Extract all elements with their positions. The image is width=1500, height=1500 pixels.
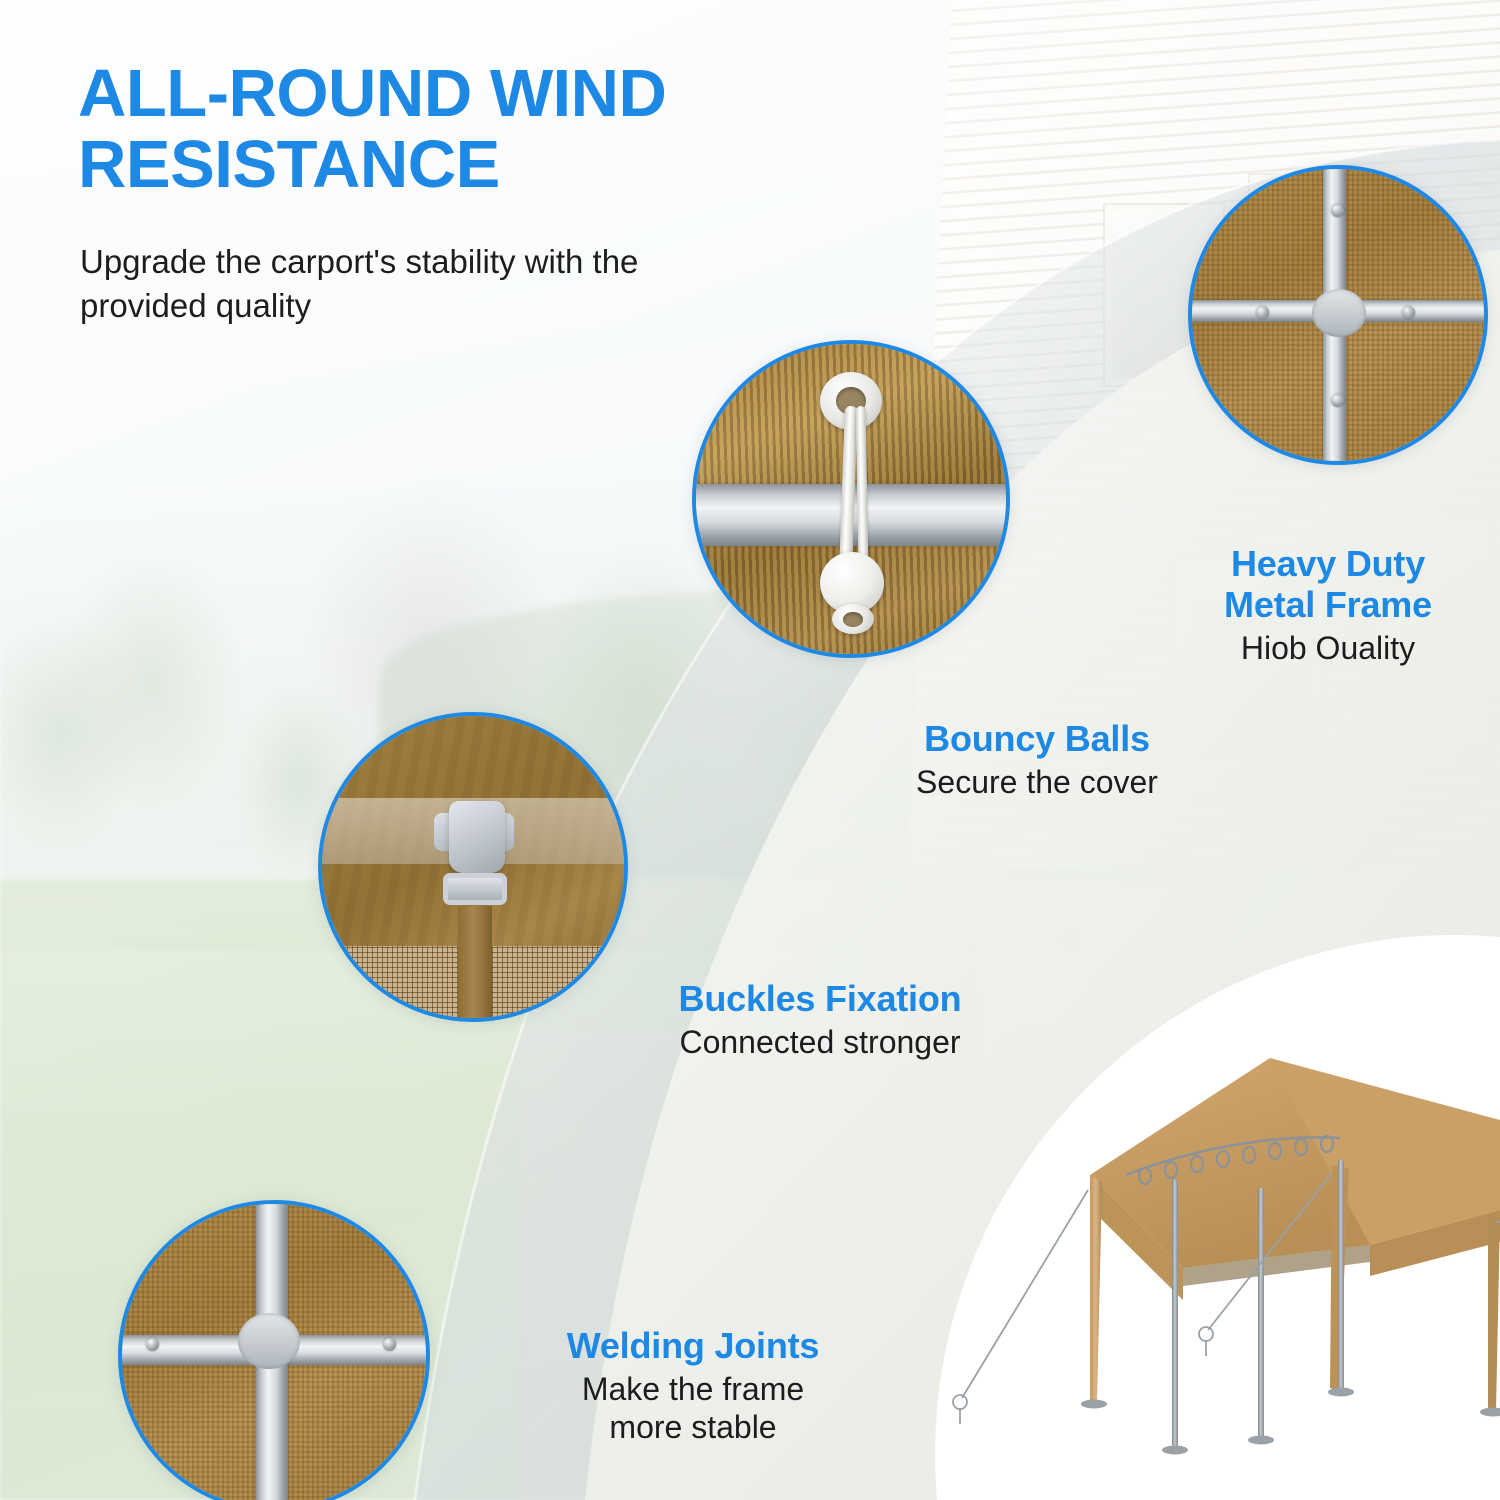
bolt bbox=[146, 1338, 159, 1351]
buckle-strap-bar bbox=[443, 873, 507, 905]
feature-welding-joints: Welding Joints Make the frame more stabl… bbox=[508, 1325, 878, 1447]
foot-plate bbox=[1480, 1408, 1500, 1417]
page-title: ALL-ROUND WIND RESISTANCE bbox=[78, 58, 838, 200]
webbing-strap bbox=[458, 906, 492, 1021]
feature-title: Bouncy Balls bbox=[862, 718, 1212, 759]
welded-cross-joint-photo bbox=[118, 1200, 430, 1500]
feature-subtitle: Secure the cover bbox=[862, 764, 1212, 802]
weld-bead bbox=[238, 1313, 300, 1369]
buckle-body bbox=[449, 801, 505, 873]
bungee-ball-grommet-photo bbox=[692, 340, 1010, 658]
joint-fitting bbox=[1312, 289, 1366, 337]
carport-canopy-illustration bbox=[940, 1010, 1500, 1500]
foot-plate bbox=[1081, 1400, 1107, 1409]
feature-bouncy-balls: Bouncy Balls Secure the cover bbox=[862, 718, 1212, 802]
bolt bbox=[1331, 204, 1344, 217]
support-pole bbox=[1172, 1180, 1178, 1448]
feature-buckles-fixation: Buckles Fixation Connected stronger bbox=[610, 978, 1030, 1062]
feature-metal-frame: Heavy Duty Metal Frame Hiob Ouality bbox=[1158, 543, 1498, 668]
infographic-poster: ALL-ROUND WIND RESISTANCE Upgrade the ca… bbox=[0, 0, 1500, 1500]
foot-plate bbox=[1328, 1388, 1354, 1397]
support-pole bbox=[1258, 1188, 1264, 1438]
feature-title: Heavy Duty Metal Frame bbox=[1158, 543, 1498, 625]
canopy-leg-far-right bbox=[1488, 1215, 1500, 1410]
canopy-leg-front-left bbox=[1090, 1175, 1102, 1402]
feature-title: Welding Joints bbox=[508, 1325, 878, 1366]
feature-subtitle: Make the frame more stable bbox=[508, 1371, 878, 1447]
feature-subtitle: Connected stronger bbox=[610, 1024, 1030, 1062]
foot-plate bbox=[1162, 1446, 1188, 1455]
support-pole bbox=[1338, 1160, 1344, 1390]
side-release-buckle-photo bbox=[318, 712, 628, 1022]
page-subtitle: Upgrade the carport's stability with the… bbox=[80, 240, 720, 327]
frame-cross-joint-photo bbox=[1188, 165, 1488, 465]
feature-subtitle: Hiob Ouality bbox=[1158, 630, 1498, 668]
feature-title: Buckles Fixation bbox=[610, 978, 1030, 1019]
bolt bbox=[1331, 394, 1344, 407]
foot-plate bbox=[1248, 1436, 1274, 1445]
